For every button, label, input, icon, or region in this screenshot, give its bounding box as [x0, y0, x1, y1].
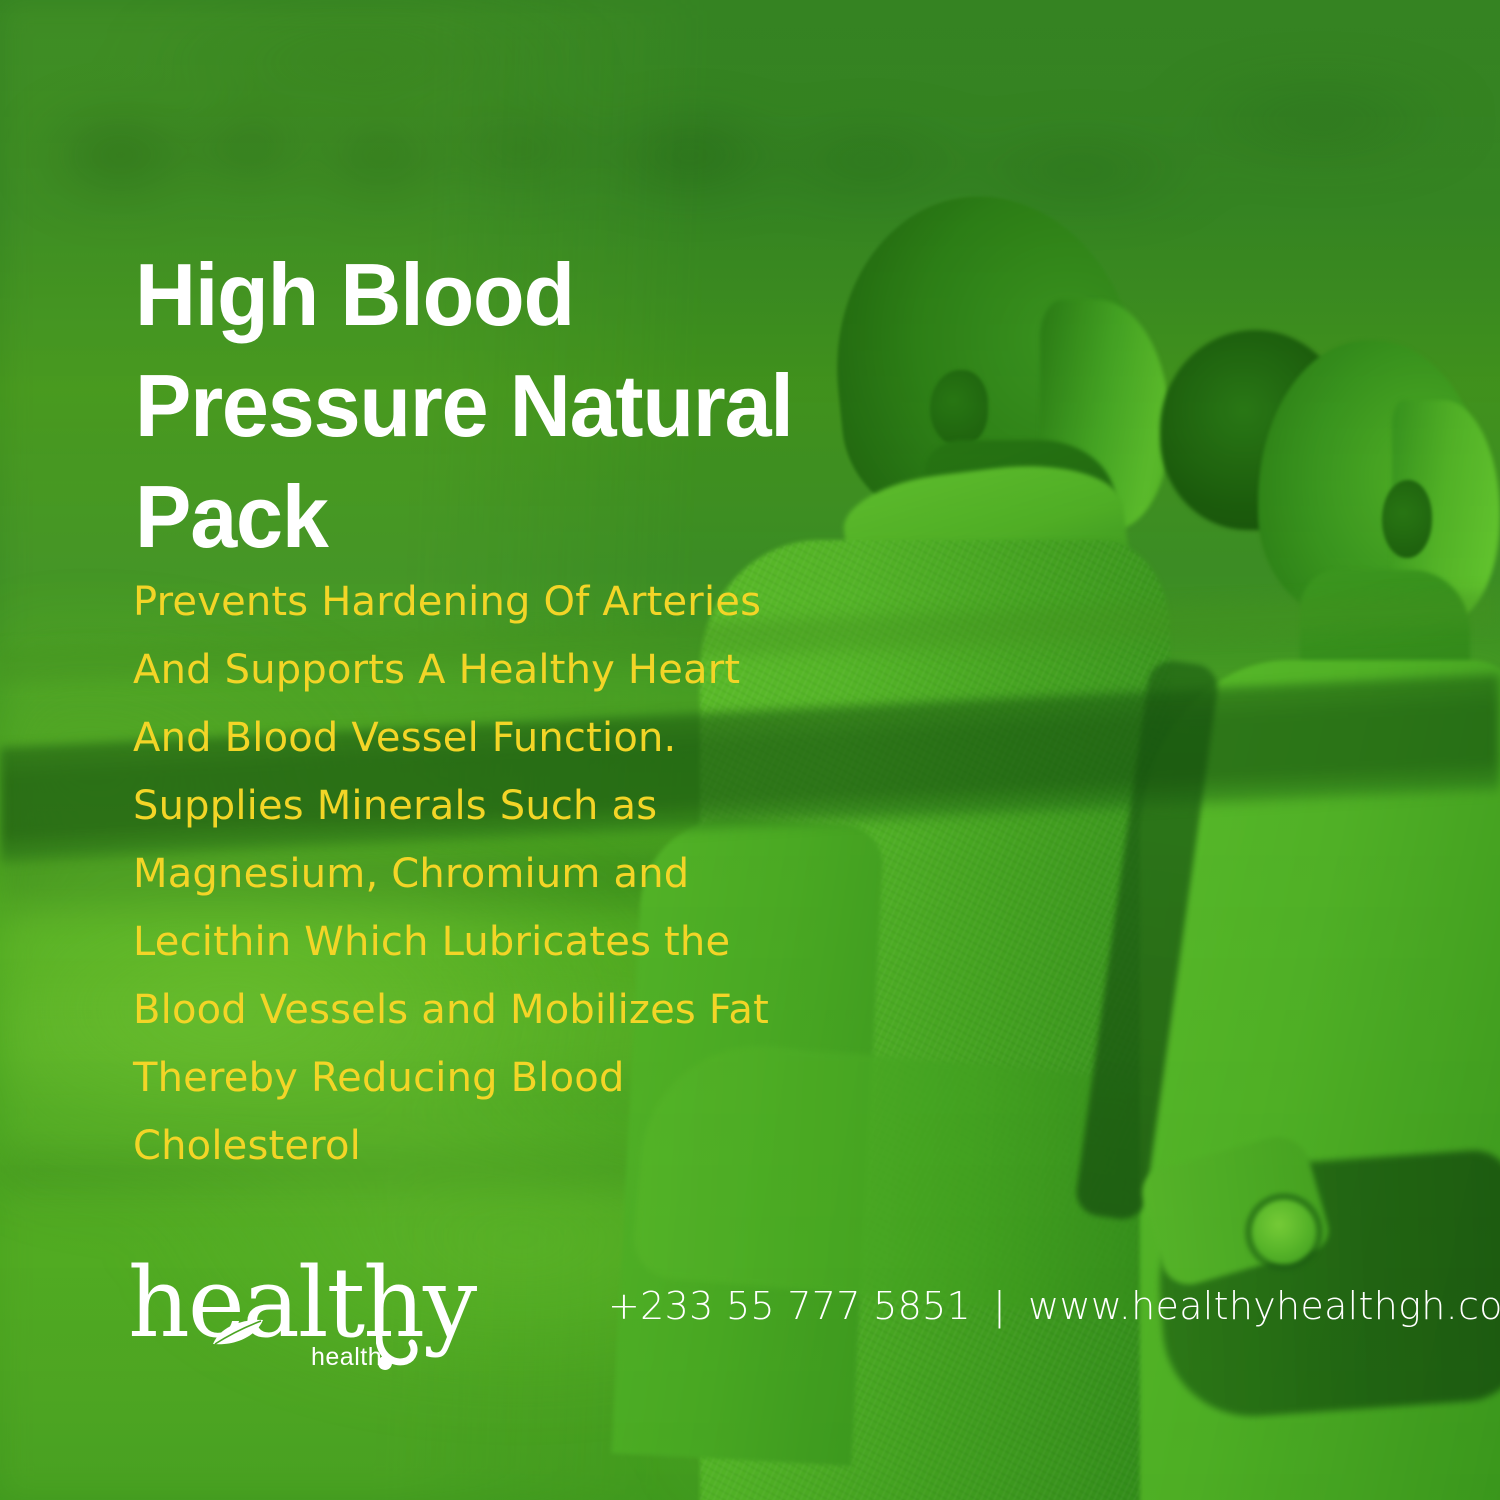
contact-bar: +233 55 777 5851 | www.healthyhealthgh.c…: [608, 1282, 1500, 1330]
poster-content: High Blood Pressure Natural Pack Prevent…: [0, 0, 1500, 1500]
website-url[interactable]: www.healthyhealthgh.com: [1028, 1282, 1500, 1330]
logo-wordmark: healthy: [128, 1255, 475, 1351]
leaf-icon: [211, 1317, 265, 1347]
poster-canvas: High Blood Pressure Natural Pack Prevent…: [0, 0, 1500, 1500]
page-title: High Blood Pressure Natural Pack: [135, 239, 951, 572]
brand-logo[interactable]: healthy health: [128, 1255, 428, 1385]
contact-separator: |: [971, 1282, 1028, 1330]
phone-number[interactable]: +233 55 777 5851: [608, 1282, 971, 1330]
swash-icon: [376, 1333, 418, 1375]
logo-tagline: health: [311, 1343, 382, 1372]
body-description: Prevents Hardening Of Arteries And Suppo…: [133, 568, 893, 1180]
